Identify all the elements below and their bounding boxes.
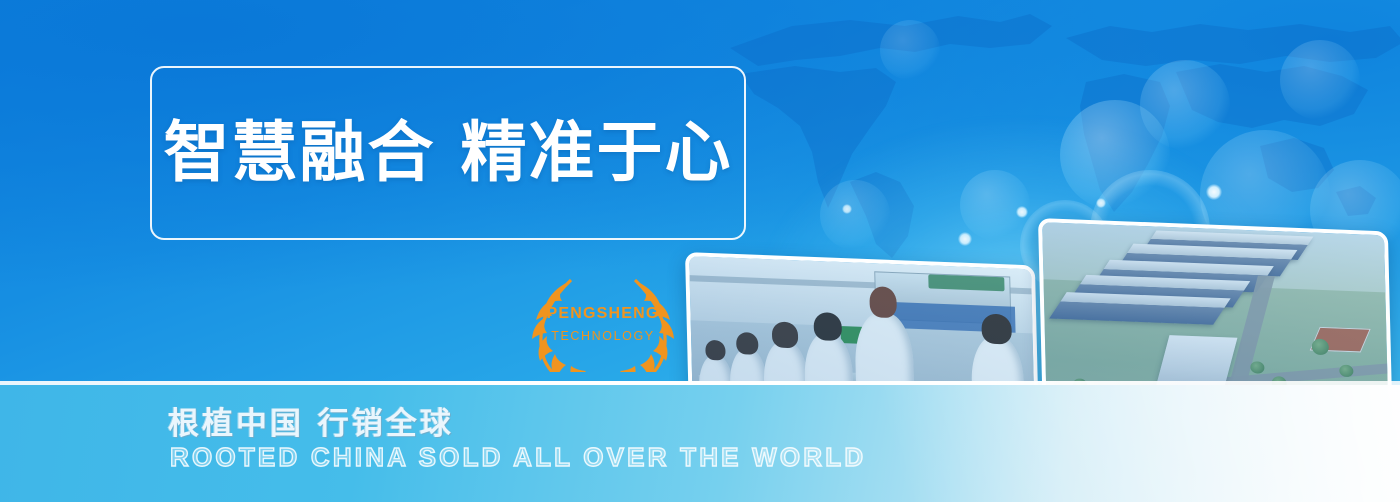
laurel-wreath-badge: PENGSHENG TECHNOLOGY — [528, 272, 678, 372]
badge-brand-text: PENGSHENG — [546, 305, 659, 322]
badge-subtitle-text: TECHNOLOGY — [551, 329, 655, 343]
headline-box: 智慧融合 精准于心 — [150, 66, 746, 240]
page-title: 智慧融合 精准于心 — [164, 120, 733, 186]
tagline-english: ROOTED CHINA SOLD ALL OVER THE WORLD — [170, 442, 866, 473]
horizontal-divider — [0, 381, 1400, 385]
tagline-chinese: 根植中国 行销全球 — [168, 398, 454, 443]
promotional-banner: 智慧融合 精准于心 — [0, 0, 1400, 502]
